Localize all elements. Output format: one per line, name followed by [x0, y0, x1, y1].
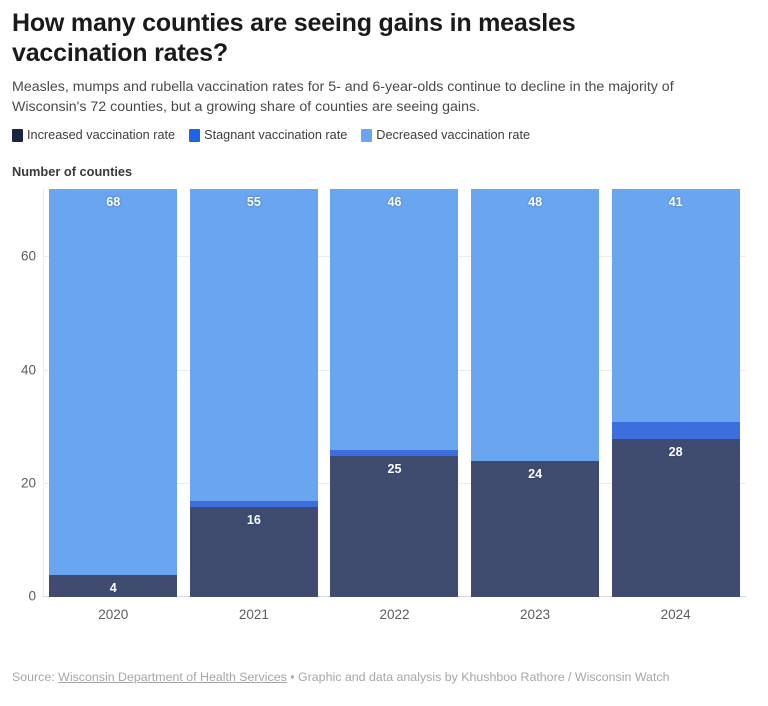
bar-segment[interactable]: 46 [330, 189, 458, 450]
bar-column[interactable]: 4625 [330, 189, 458, 597]
bar-segment[interactable]: 16 [190, 507, 318, 598]
source-link[interactable]: Wisconsin Department of Health Services [58, 670, 287, 684]
bar-group: 6845516462548244128 [43, 189, 746, 597]
plot-area: 0204060 6845516462548244128 [43, 189, 746, 597]
legend-item[interactable]: Decreased vaccination rate [361, 128, 530, 142]
x-axis-tick-label: 2022 [330, 607, 458, 622]
source-suffix: • Graphic and data analysis by Khushboo … [287, 670, 670, 684]
legend-label: Stagnant vaccination rate [204, 128, 347, 142]
legend-swatch-icon [361, 129, 372, 142]
legend-swatch-icon [12, 129, 23, 142]
x-axis-tick-label: 2024 [612, 607, 740, 622]
bar-value-label: 25 [330, 462, 458, 476]
legend-label: Decreased vaccination rate [376, 128, 530, 142]
x-axis-tick-label: 2023 [471, 607, 599, 622]
x-axis-tick-label: 2021 [190, 607, 318, 622]
bar-segment[interactable]: 55 [190, 189, 318, 501]
bar-segment[interactable]: 41 [612, 189, 740, 421]
bar-column[interactable]: 4128 [612, 189, 740, 597]
bar-segment[interactable]: 68 [49, 189, 177, 574]
bar-value-label: 28 [612, 445, 740, 459]
bar-value-label: 55 [190, 195, 318, 209]
bar-value-label: 41 [612, 195, 740, 209]
bar-segment[interactable]: 28 [612, 439, 740, 598]
bar-value-label: 48 [471, 195, 599, 209]
x-axis-tick-label: 2020 [49, 607, 177, 622]
page-title: How many counties are seeing gains in me… [12, 9, 672, 68]
y-axis-tick-label: 60 [21, 249, 36, 264]
chart-subtitle: Measles, mumps and rubella vaccination r… [12, 77, 750, 117]
bar-column[interactable]: 684 [49, 189, 177, 597]
y-axis-caption: Number of counties [12, 164, 756, 179]
bar-value-label: 24 [471, 467, 599, 481]
bar-segment[interactable]: 48 [471, 189, 599, 461]
bar-value-label: 68 [49, 195, 177, 209]
legend-item[interactable]: Stagnant vaccination rate [189, 128, 347, 142]
chart-page: How many counties are seeing gains in me… [0, 9, 768, 706]
y-axis-tick-label: 0 [28, 589, 36, 604]
y-axis-tick-label: 20 [21, 475, 36, 490]
bar-column[interactable]: 5516 [190, 189, 318, 597]
legend-swatch-icon [189, 129, 200, 142]
x-axis-tick-row: 20202021202220232024 [43, 603, 746, 625]
source-footnote: Source: Wisconsin Department of Health S… [12, 669, 756, 686]
legend-item[interactable]: Increased vaccination rate [12, 128, 175, 142]
bar-value-label: 46 [330, 195, 458, 209]
bar-segment[interactable]: 4 [49, 575, 177, 598]
bar-segment[interactable] [612, 422, 740, 439]
bar-value-label: 16 [190, 513, 318, 527]
source-prefix: Source: [12, 670, 58, 684]
bar-segment[interactable]: 25 [330, 456, 458, 598]
bar-segment[interactable]: 24 [471, 461, 599, 597]
bar-value-label: 4 [49, 581, 177, 595]
legend-label: Increased vaccination rate [27, 128, 175, 142]
bar-column[interactable]: 4824 [471, 189, 599, 597]
plot-wrapper: 0204060 6845516462548244128 202020212022… [12, 189, 756, 629]
chart-legend: Increased vaccination rateStagnant vacci… [12, 128, 756, 142]
y-axis-tick-label: 40 [21, 362, 36, 377]
